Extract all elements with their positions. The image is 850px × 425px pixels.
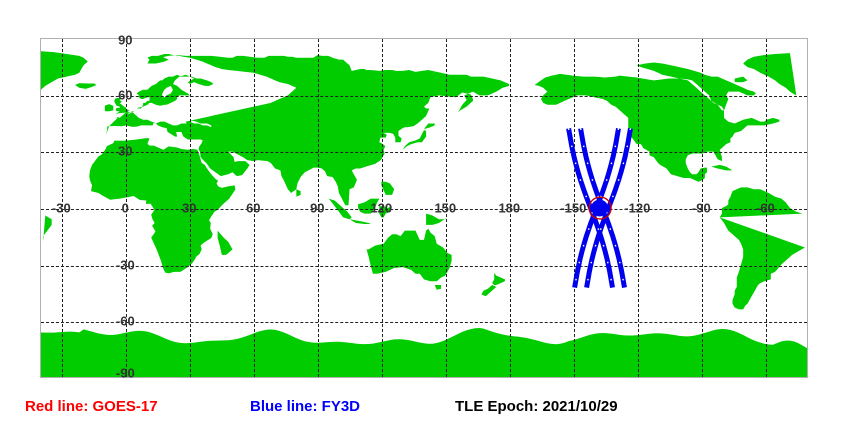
legend-red-line: Red line: GOES-17 bbox=[25, 392, 158, 422]
tick-label-longitude: 30 bbox=[182, 202, 196, 215]
legend-blue-line: Blue line: FY3D bbox=[250, 392, 360, 422]
tick-label-latitude: 30 bbox=[118, 145, 132, 158]
landmass-australia bbox=[367, 229, 452, 282]
tick-label-longitude: -150 bbox=[560, 202, 586, 215]
tick-label-longitude: 90 bbox=[310, 202, 324, 215]
tick-label-longitude: -90 bbox=[692, 202, 711, 215]
landmass-antarctica bbox=[41, 328, 807, 377]
landmass-srilanka bbox=[296, 189, 300, 197]
landmass-nz_island bbox=[735, 77, 748, 83]
tick-label-longitude: 0 bbox=[122, 202, 129, 215]
landmass-newzealand2 bbox=[481, 285, 496, 296]
landmass-south_america bbox=[720, 217, 805, 309]
tick-label-latitude: 60 bbox=[118, 88, 132, 101]
tick-label-longitude: 120 bbox=[370, 202, 392, 215]
legend: Red line: GOES-17 Blue line: FY3D TLE Ep… bbox=[0, 392, 850, 422]
tick-label-longitude: 150 bbox=[434, 202, 456, 215]
tick-label-longitude: -120 bbox=[624, 202, 650, 215]
tick-label-longitude: 60 bbox=[246, 202, 260, 215]
tick-label-latitude: -90 bbox=[116, 367, 135, 380]
landmass-ireland bbox=[105, 104, 113, 111]
landmass-java bbox=[349, 219, 370, 224]
landmass-greenland bbox=[743, 53, 796, 95]
tick-label-latitude: -60 bbox=[116, 315, 135, 328]
tick-label-longitude: 180 bbox=[498, 202, 520, 215]
legend-tle-epoch: TLE Epoch: 2021/10/29 bbox=[455, 392, 618, 422]
landmass-greenland bbox=[796, 93, 802, 95]
landmass-madagascar bbox=[218, 231, 233, 255]
tick-label-longitude: -60 bbox=[756, 202, 775, 215]
landmass-cuba bbox=[711, 165, 732, 171]
landmass-newzealand1 bbox=[492, 273, 505, 285]
landmass-iceland bbox=[75, 83, 96, 89]
landmass-tasmania bbox=[435, 285, 441, 290]
satellite-tracking-map: -300306090120150180-150-120-90-60906030-… bbox=[0, 0, 850, 425]
tick-label-longitude: -30 bbox=[52, 202, 71, 215]
landmass-south_america bbox=[43, 216, 52, 242]
landmass-japan2 bbox=[424, 124, 435, 130]
tick-label-latitude: 90 bbox=[118, 34, 132, 47]
tick-label-latitude: -30 bbox=[116, 258, 135, 271]
landmass-philippines bbox=[381, 182, 394, 195]
landmass-japan1 bbox=[403, 130, 426, 150]
